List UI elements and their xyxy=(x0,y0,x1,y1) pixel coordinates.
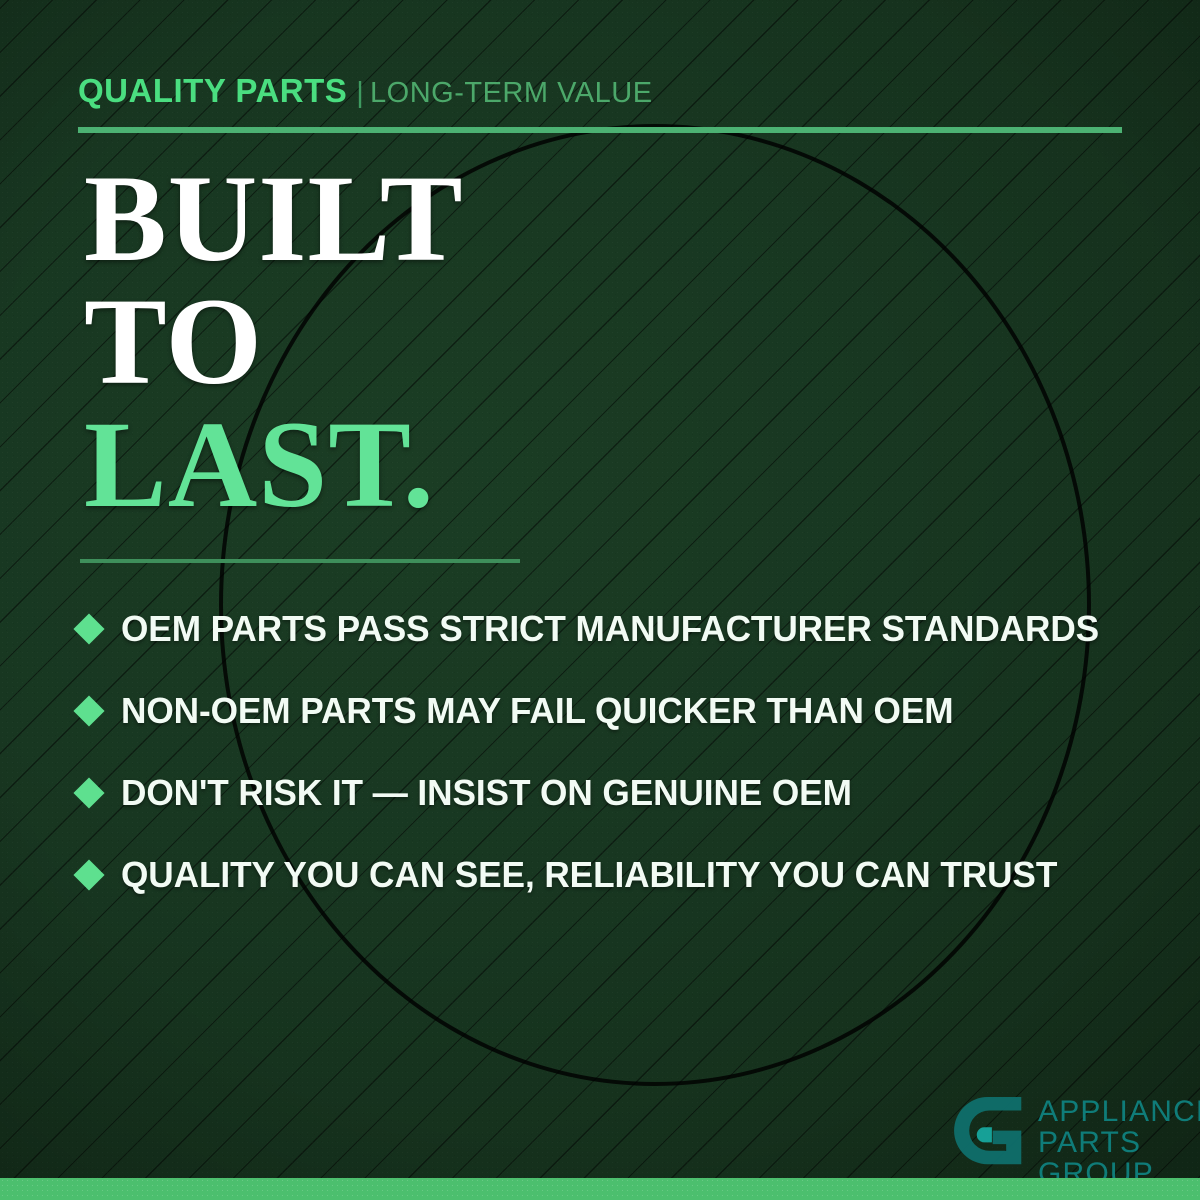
diamond-bullet-icon xyxy=(73,613,104,644)
list-item-label: NON-OEM PARTS MAY FAIL QUICKER THAN OEM xyxy=(121,690,954,732)
header-divider-rule xyxy=(78,127,1122,133)
list-item: QUALITY YOU CAN SEE, RELIABILITY YOU CAN… xyxy=(78,834,1148,916)
diamond-bullet-icon xyxy=(73,777,104,808)
benefits-list: OEM PARTS PASS STRICT MANUFACTURER STAND… xyxy=(78,588,1148,916)
diamond-bullet-icon xyxy=(73,695,104,726)
diamond-bullet-icon xyxy=(73,859,104,890)
bottom-accent-bar xyxy=(0,1178,1200,1200)
headline-line-3: LAST. xyxy=(84,404,464,527)
brand-logo-wordmark: APPLIANCE PARTS GROUP xyxy=(1038,1092,1200,1190)
page-title: BUILT TO LAST. xyxy=(84,158,464,526)
g-monogram-icon xyxy=(944,1092,1028,1176)
list-item: OEM PARTS PASS STRICT MANUFACTURER STAND… xyxy=(78,588,1148,670)
eyebrow-separator: | xyxy=(356,77,364,109)
headline-divider-rule xyxy=(80,559,520,563)
list-item-label: DON'T RISK IT — INSIST ON GENUINE OEM xyxy=(121,772,852,814)
headline-line-2: TO xyxy=(84,281,464,404)
eyebrow-sub-label: LONG-TERM VALUE xyxy=(370,77,653,109)
list-item: DON'T RISK IT — INSIST ON GENUINE OEM xyxy=(78,752,1148,834)
brand-logo-line-2: PARTS xyxy=(1038,1127,1200,1158)
brand-logo-line-1: APPLIANCE xyxy=(1038,1096,1200,1127)
list-item: NON-OEM PARTS MAY FAIL QUICKER THAN OEM xyxy=(78,670,1148,752)
headline-line-1: BUILT xyxy=(84,158,464,281)
eyebrow-header: QUALITY PARTS|LONG-TERM VALUE xyxy=(78,72,653,110)
poster-content: QUALITY PARTS|LONG-TERM VALUE BUILT TO L… xyxy=(0,0,1200,1200)
brand-logo: APPLIANCE PARTS GROUP xyxy=(944,1092,1200,1190)
list-item-label: QUALITY YOU CAN SEE, RELIABILITY YOU CAN… xyxy=(121,854,1057,896)
bottom-accent-bar-texture xyxy=(0,1178,1200,1200)
list-item-label: OEM PARTS PASS STRICT MANUFACTURER STAND… xyxy=(121,608,1099,650)
poster-canvas: QUALITY PARTS|LONG-TERM VALUE BUILT TO L… xyxy=(0,0,1200,1200)
eyebrow-strong-label: QUALITY PARTS xyxy=(78,72,347,109)
